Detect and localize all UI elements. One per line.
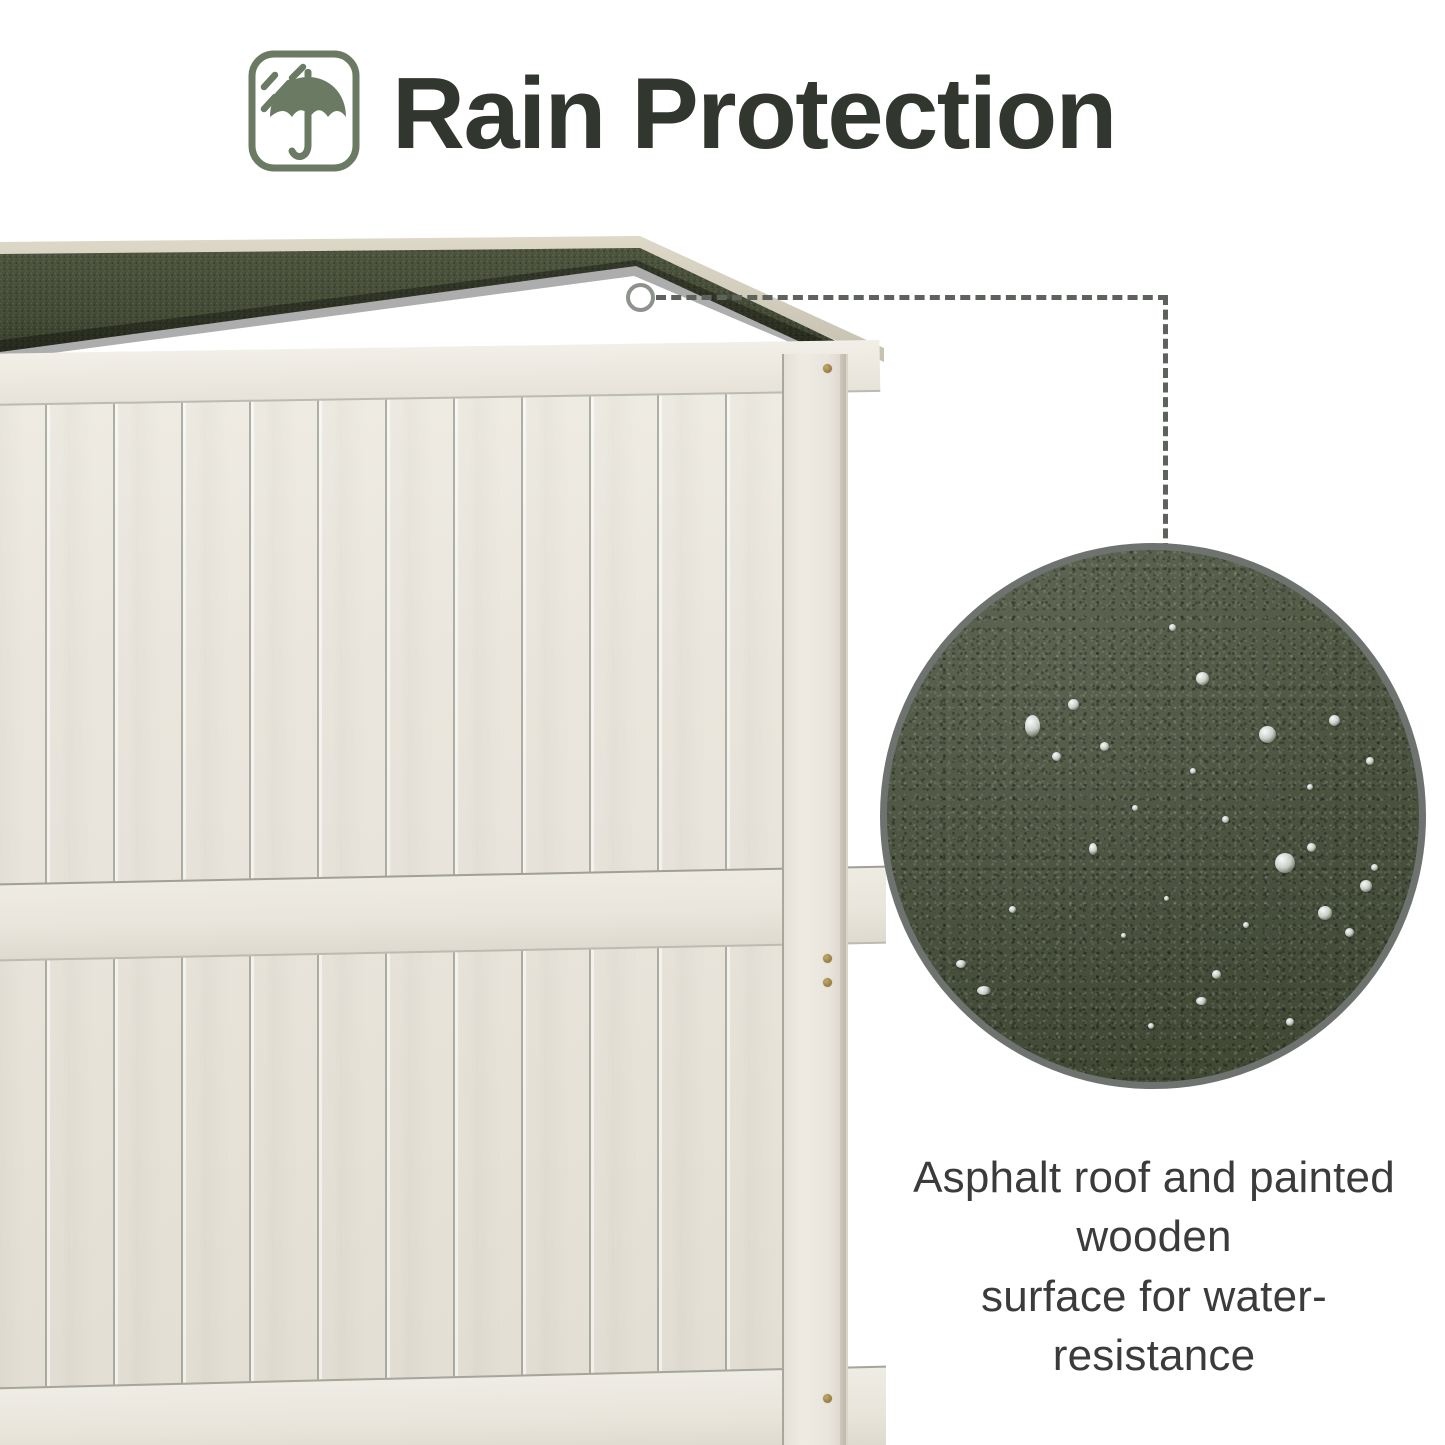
umbrella-rain-icon	[248, 50, 360, 172]
asphalt-roof-closeup	[880, 543, 1426, 1089]
page-title: Rain Protection	[392, 44, 1292, 184]
water-droplet	[1052, 752, 1061, 761]
roof-detail-marker	[626, 283, 655, 312]
connector-line-vertical	[1163, 295, 1168, 553]
detail-caption: Asphalt roof and painted wooden surface …	[880, 1148, 1428, 1386]
water-droplet	[1345, 928, 1354, 937]
connector-line-horizontal	[656, 295, 1168, 300]
feature-image: Rain Protection	[0, 0, 1445, 1445]
water-droplet	[1196, 997, 1207, 1005]
water-droplet	[1089, 843, 1097, 855]
screw-icon	[823, 954, 832, 963]
water-droplet	[1164, 896, 1169, 901]
water-droplet	[1196, 672, 1209, 685]
water-droplet	[1068, 699, 1079, 710]
corner-stile	[782, 354, 848, 1445]
caption-line-2: surface for water-resistance	[880, 1267, 1428, 1386]
water-droplet	[1307, 843, 1316, 852]
screw-icon	[823, 1394, 832, 1403]
screw-icon	[823, 364, 832, 373]
water-droplet	[1100, 742, 1109, 751]
water-droplet	[1212, 970, 1221, 979]
water-droplet	[1259, 726, 1276, 743]
header: Rain Protection	[0, 0, 1445, 225]
screw-icon	[823, 978, 832, 987]
granule-texture-fine	[887, 550, 1419, 1082]
water-droplet	[956, 960, 966, 968]
caption-line-1: Asphalt roof and painted wooden	[880, 1148, 1428, 1267]
shed-product-photo	[0, 236, 886, 1445]
water-droplet	[1371, 864, 1378, 871]
shed-right-edge	[840, 354, 846, 1445]
water-droplet	[1329, 715, 1340, 726]
